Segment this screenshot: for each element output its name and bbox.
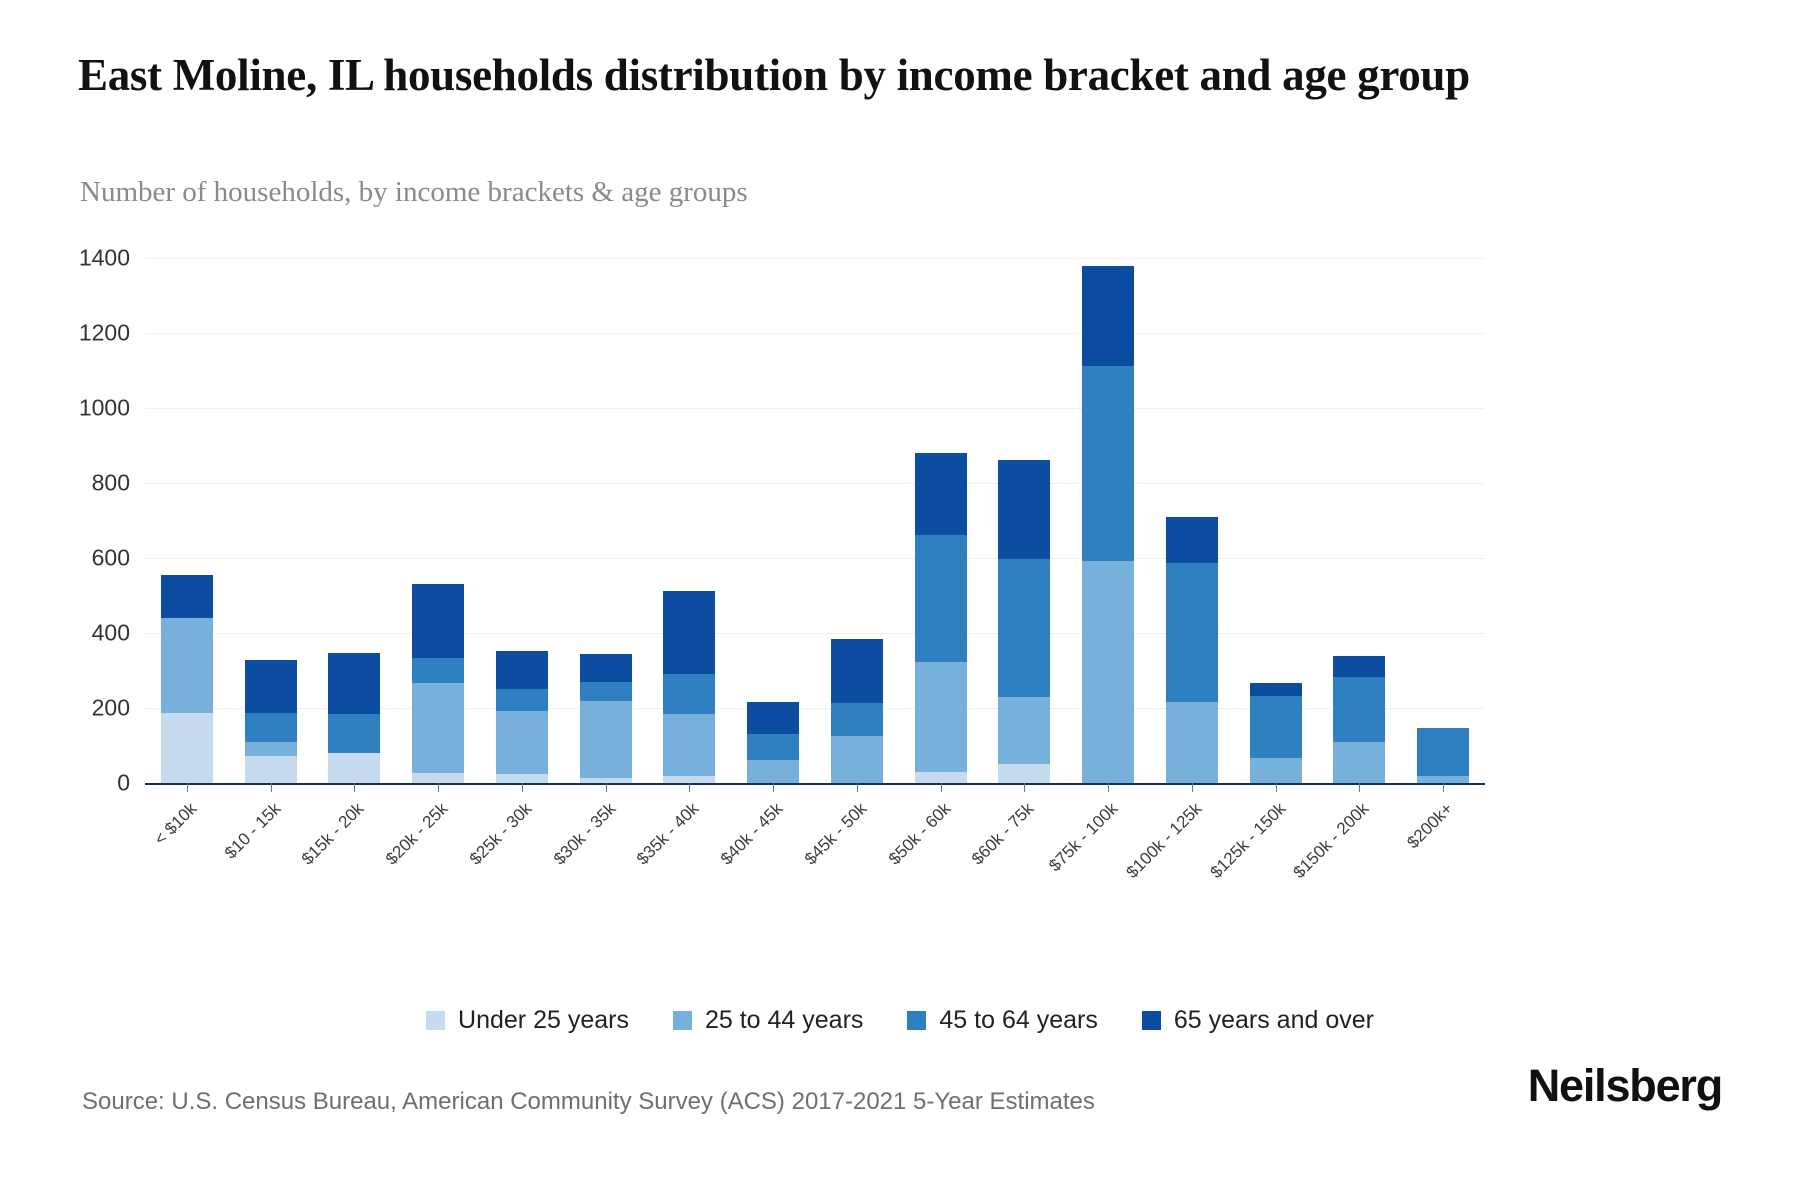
- y-axis-tick-label: 600: [40, 545, 130, 572]
- x-axis-label: < $10k: [45, 799, 201, 955]
- y-axis: 0200400600800100012001400: [40, 258, 130, 783]
- x-axis-tick: [1359, 783, 1360, 792]
- x-axis-tick: [941, 783, 942, 792]
- bar-segment[interactable]: [1417, 728, 1469, 777]
- bar-segment[interactable]: [161, 713, 213, 784]
- x-axis-tick: [522, 783, 523, 792]
- bar-segment[interactable]: [998, 764, 1050, 783]
- bar-segment[interactable]: [580, 654, 632, 682]
- bar-segment[interactable]: [1333, 742, 1385, 783]
- bar-column[interactable]: [161, 258, 213, 783]
- y-axis-tick-label: 1000: [40, 395, 130, 422]
- chart-subtitle: Number of households, by income brackets…: [80, 176, 1480, 209]
- legend-swatch-icon: [426, 1011, 445, 1030]
- x-axis-tick: [1108, 783, 1109, 792]
- legend-label: Under 25 years: [458, 1006, 629, 1035]
- x-axis-label: $60k - 75k: [883, 799, 1039, 955]
- bar-segment[interactable]: [245, 742, 297, 756]
- x-axis-tick: [187, 783, 188, 792]
- bar-segment[interactable]: [496, 711, 548, 774]
- bar-column[interactable]: [580, 258, 632, 783]
- x-axis-label: $15k - 20k: [213, 799, 369, 955]
- bar-segment[interactable]: [915, 772, 967, 783]
- legend-label: 45 to 64 years: [939, 1006, 1097, 1035]
- bar-segment[interactable]: [1250, 758, 1302, 783]
- x-axis-label: $25k - 30k: [380, 799, 536, 955]
- bar-segment[interactable]: [412, 683, 464, 772]
- bar-segment[interactable]: [1333, 677, 1385, 742]
- bar-segment[interactable]: [1333, 656, 1385, 678]
- x-axis-tick: [438, 783, 439, 792]
- bar-segment[interactable]: [915, 535, 967, 663]
- bar-column[interactable]: [998, 258, 1050, 783]
- x-axis-tick: [606, 783, 607, 792]
- legend-swatch-icon: [1142, 1011, 1161, 1030]
- bar-segment[interactable]: [998, 559, 1050, 697]
- page-title: East Moline, IL households distribution …: [78, 48, 1638, 103]
- x-axis-tick: [857, 783, 858, 792]
- bar-segment[interactable]: [1250, 683, 1302, 696]
- chart-page: East Moline, IL households distribution …: [0, 0, 1800, 1200]
- legend-label: 25 to 44 years: [705, 1006, 863, 1035]
- bar-segment[interactable]: [831, 736, 883, 783]
- x-axis-label: $150k - 200k: [1218, 799, 1374, 955]
- bar-segment[interactable]: [161, 618, 213, 713]
- bar-column[interactable]: [1082, 258, 1134, 783]
- x-axis-label: $125k - 150k: [1134, 799, 1290, 955]
- bar-segment[interactable]: [1417, 776, 1469, 783]
- bar-segment[interactable]: [747, 760, 799, 783]
- y-axis-tick-label: 800: [40, 470, 130, 497]
- legend-item[interactable]: 65 years and over: [1142, 1006, 1374, 1035]
- bar-column[interactable]: [831, 258, 883, 783]
- bar-column[interactable]: [496, 258, 548, 783]
- y-axis-tick-label: 1400: [40, 245, 130, 272]
- bar-column[interactable]: [1250, 258, 1302, 783]
- x-axis-label: $30k - 35k: [464, 799, 620, 955]
- x-axis-label: $45k - 50k: [715, 799, 871, 955]
- bar-segment[interactable]: [1082, 366, 1134, 561]
- bar-segment[interactable]: [663, 776, 715, 784]
- bar-segment[interactable]: [663, 674, 715, 714]
- bar-column[interactable]: [245, 258, 297, 783]
- bar-segment[interactable]: [412, 773, 464, 784]
- source-note: Source: U.S. Census Bureau, American Com…: [82, 1088, 1095, 1116]
- x-axis-line: [145, 783, 1485, 785]
- bar-column[interactable]: [1333, 258, 1385, 783]
- bar-segment[interactable]: [328, 714, 380, 753]
- bar-segment[interactable]: [663, 591, 715, 674]
- bar-segment[interactable]: [496, 651, 548, 689]
- y-axis-tick-label: 200: [40, 695, 130, 722]
- bar-segment[interactable]: [831, 639, 883, 704]
- x-axis-tick: [689, 783, 690, 792]
- x-axis-label: $35k - 40k: [548, 799, 704, 955]
- bar-segment[interactable]: [245, 660, 297, 713]
- bar-segment[interactable]: [998, 697, 1050, 765]
- y-axis-tick-label: 1200: [40, 320, 130, 347]
- legend-label: 65 years and over: [1174, 1006, 1374, 1035]
- bar-segment[interactable]: [915, 662, 967, 772]
- x-axis-tick: [1443, 783, 1444, 792]
- bar-column[interactable]: [747, 258, 799, 783]
- bar-segment[interactable]: [328, 753, 380, 783]
- bar-column[interactable]: [412, 258, 464, 783]
- legend-item[interactable]: 25 to 44 years: [673, 1006, 863, 1035]
- bar-segment[interactable]: [245, 713, 297, 742]
- bar-segment[interactable]: [580, 682, 632, 702]
- legend-swatch-icon: [907, 1011, 926, 1030]
- bar-segment[interactable]: [1166, 702, 1218, 783]
- x-axis-label: $20k - 25k: [297, 799, 453, 955]
- bar-segment[interactable]: [915, 453, 967, 535]
- x-axis-label: $75k - 100k: [967, 799, 1123, 955]
- bar-segment[interactable]: [663, 714, 715, 776]
- bar-segment[interactable]: [1082, 561, 1134, 783]
- chart-legend: Under 25 years25 to 44 years45 to 64 yea…: [0, 1006, 1800, 1035]
- bar-segment[interactable]: [1250, 696, 1302, 758]
- x-axis-label: $40k - 45k: [632, 799, 788, 955]
- bar-column[interactable]: [663, 258, 715, 783]
- brand-logo: Neilsberg: [1528, 1060, 1722, 1112]
- x-axis-tick: [271, 783, 272, 792]
- bar-segment[interactable]: [1082, 266, 1134, 367]
- bar-segment[interactable]: [328, 653, 380, 714]
- x-axis-label: $50k - 60k: [799, 799, 955, 955]
- plot-area: [145, 258, 1485, 783]
- legend-item[interactable]: Under 25 years: [426, 1006, 629, 1035]
- bar-segment[interactable]: [496, 689, 548, 710]
- bar-segment[interactable]: [496, 774, 548, 783]
- bar-column[interactable]: [915, 258, 967, 783]
- x-axis-tick: [773, 783, 774, 792]
- bar-segment[interactable]: [831, 703, 883, 736]
- bar-segment[interactable]: [747, 734, 799, 760]
- bar-segment[interactable]: [998, 460, 1050, 559]
- bar-segment[interactable]: [1166, 563, 1218, 702]
- bar-segment[interactable]: [412, 658, 464, 683]
- y-axis-tick-label: 400: [40, 620, 130, 647]
- y-axis-tick-label: 0: [40, 770, 130, 797]
- x-axis-tick: [1276, 783, 1277, 792]
- legend-swatch-icon: [673, 1011, 692, 1030]
- x-axis-tick: [1192, 783, 1193, 792]
- bar-segment[interactable]: [747, 702, 799, 733]
- x-axis-label: $10 - 15k: [129, 799, 285, 955]
- bar-segment[interactable]: [580, 701, 632, 778]
- bar-column[interactable]: [328, 258, 380, 783]
- x-axis-label: $100k - 125k: [1050, 799, 1206, 955]
- bar-segment[interactable]: [1166, 517, 1218, 563]
- bar-segment[interactable]: [412, 584, 464, 658]
- bar-column[interactable]: [1166, 258, 1218, 783]
- legend-item[interactable]: 45 to 64 years: [907, 1006, 1097, 1035]
- x-axis-tick: [354, 783, 355, 792]
- x-axis-label: $200k+: [1302, 799, 1458, 955]
- bar-segment[interactable]: [245, 756, 297, 783]
- x-axis-tick: [1024, 783, 1025, 792]
- bar-segment[interactable]: [161, 575, 213, 618]
- bar-column[interactable]: [1417, 258, 1469, 783]
